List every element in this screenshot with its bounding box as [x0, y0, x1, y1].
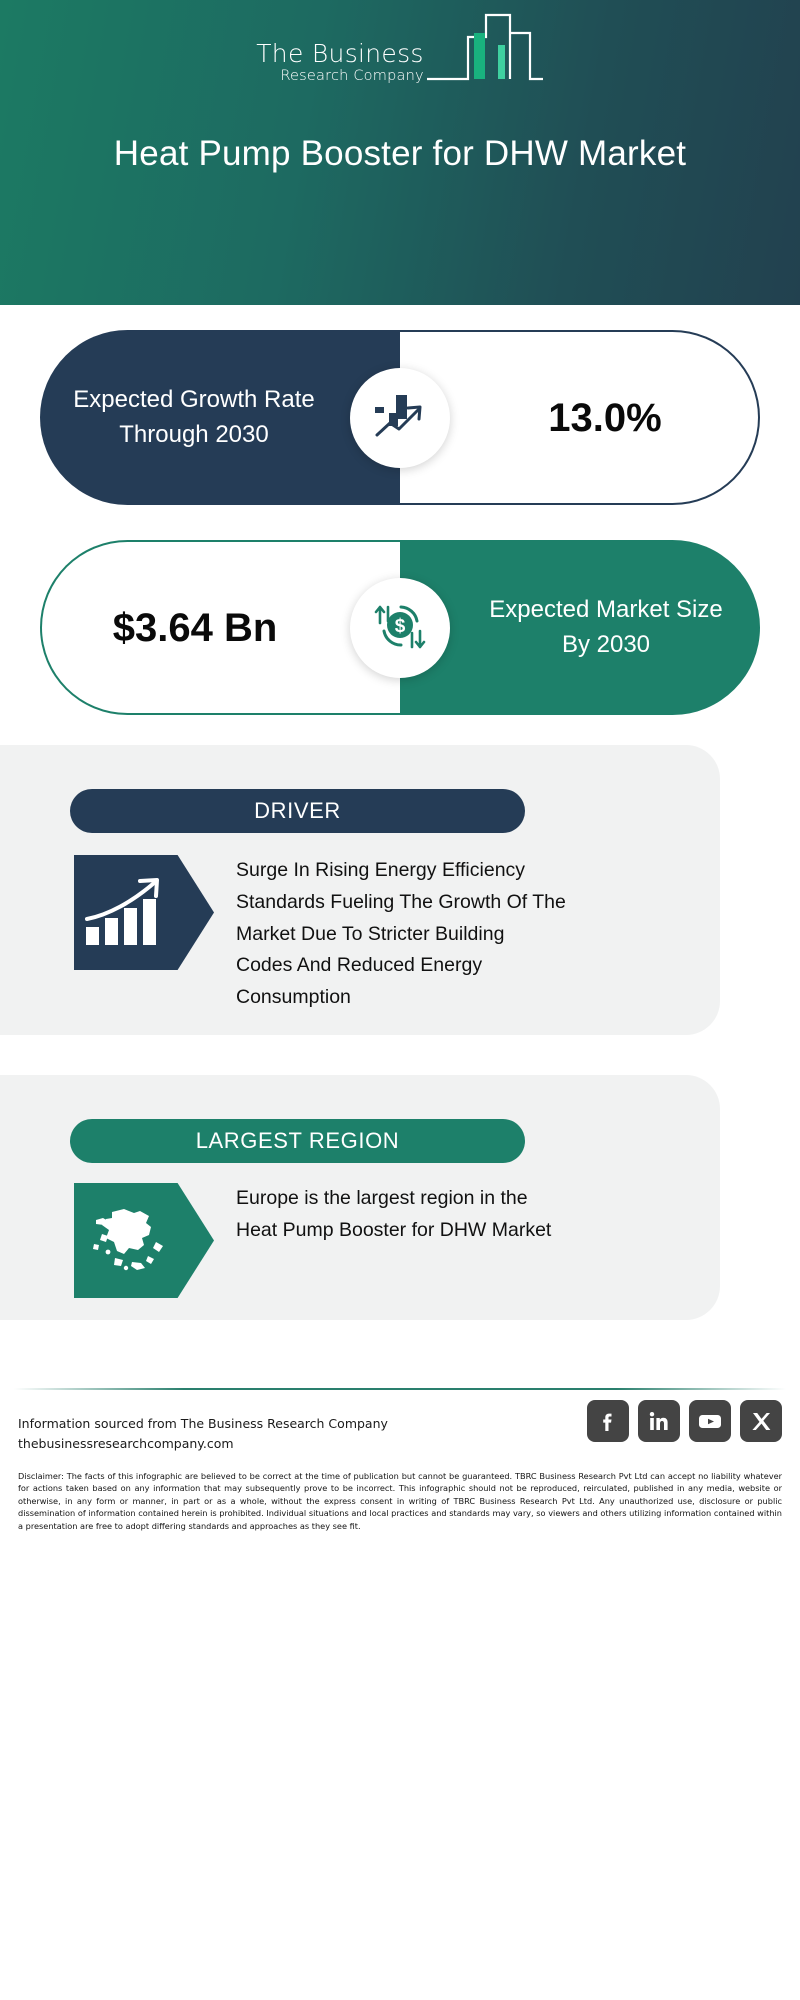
social-links	[587, 1400, 782, 1442]
largest-region-heading-pill: LARGEST REGION	[70, 1119, 525, 1163]
source-line-2[interactable]: thebusinessresearchcompany.com	[18, 1434, 448, 1454]
infographic-page: The Business Research Company Heat Pump …	[0, 0, 800, 2000]
largest-region-text: Europe is the largest region in the Heat…	[236, 1183, 566, 1247]
disclaimer-text: Disclaimer: The facts of this infographi…	[18, 1470, 782, 1532]
market-size-value: $3.64 Bn	[70, 605, 320, 651]
market-size-label-pill: Expected Market Size By 2030	[400, 540, 760, 715]
growth-chart-arrow-icon	[350, 368, 450, 468]
driver-text: Surge In Rising Energy Efficiency Standa…	[236, 855, 566, 1014]
header-banner: The Business Research Company Heat Pump …	[0, 0, 800, 305]
svg-text:$: $	[395, 616, 406, 637]
company-logo: The Business Research Company	[0, 18, 800, 90]
x-twitter-icon[interactable]	[740, 1400, 782, 1442]
source-attribution: Information sourced from The Business Re…	[18, 1414, 448, 1455]
europe-map-icon	[74, 1183, 214, 1298]
source-line-1: Information sourced from The Business Re…	[18, 1414, 448, 1434]
driver-heading: DRIVER	[254, 798, 341, 824]
growth-rate-label: Expected Growth Rate Through 2030	[69, 383, 319, 451]
driver-heading-pill: DRIVER	[70, 789, 525, 833]
market-size-value-pill: $3.64 Bn	[40, 540, 400, 715]
largest-region-body: Europe is the largest region in the Heat…	[74, 1183, 566, 1298]
linkedin-icon[interactable]	[638, 1400, 680, 1442]
page-title: Heat Pump Booster for DHW Market	[40, 132, 760, 177]
bar-chart-growth-icon	[74, 855, 214, 970]
logo-line-2: Research Company	[280, 67, 423, 86]
driver-body: Surge In Rising Energy Efficiency Standa…	[74, 855, 566, 1014]
bar-chart-logo-mark	[426, 11, 544, 88]
facebook-icon[interactable]	[587, 1400, 629, 1442]
growth-rate-value: 13.0%	[480, 395, 730, 441]
footer-divider	[14, 1388, 786, 1390]
growth-rate-label-pill: Expected Growth Rate Through 2030	[40, 330, 400, 505]
youtube-icon[interactable]	[689, 1400, 731, 1442]
stat-card-market-size: $3.64 Bn Expected Market Size By 2030 $	[40, 540, 760, 715]
logo-line-1: The Business	[256, 41, 424, 67]
market-size-label: Expected Market Size By 2030	[481, 593, 731, 661]
growth-rate-value-pill: 13.0%	[400, 330, 760, 505]
dollar-exchange-icon: $	[350, 578, 450, 678]
logo-wordmark: The Business Research Company	[256, 41, 424, 90]
section-driver: DRIVER Surge In Rising Energy Efficiency…	[0, 745, 720, 1035]
largest-region-heading: LARGEST REGION	[196, 1128, 400, 1154]
stat-card-growth-rate: Expected Growth Rate Through 2030 13.0%	[40, 330, 760, 505]
section-largest-region: LARGEST REGION	[0, 1075, 720, 1320]
